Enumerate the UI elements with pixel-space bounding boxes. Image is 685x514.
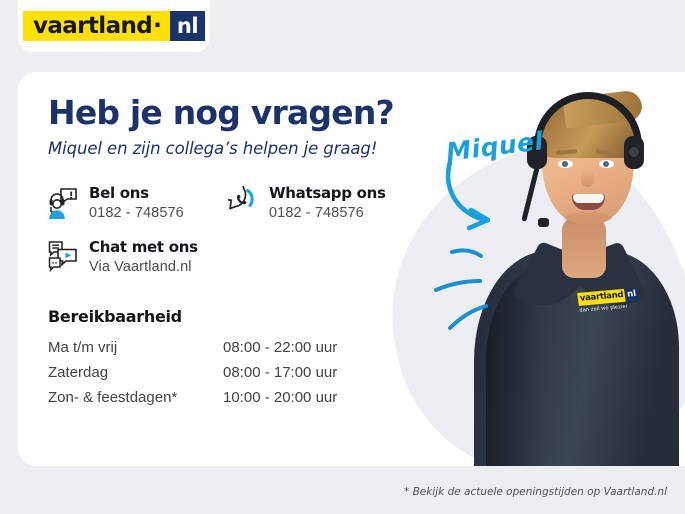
- table-row: Ma t/m vrij 08:00 - 22:00 uur: [48, 339, 448, 356]
- contact-text-whatsapp: Whatsapp ons 0182 - 748576: [269, 184, 386, 221]
- logo-word: vaartland: [33, 15, 152, 38]
- curved-arrow-icon: [438, 158, 534, 236]
- contact-text-chat: Chat met ons Via Vaartland.nl: [89, 238, 198, 275]
- eye-left: [558, 160, 573, 168]
- headset-earcup-right: [624, 136, 644, 169]
- availability-day: Ma t/m vrij: [48, 339, 223, 356]
- promo-content: Heb je nog vragen? Miquel en zijn colleg…: [48, 96, 448, 414]
- table-row: Zon- & feestdagen* 10:00 - 20:00 uur: [48, 389, 448, 406]
- availability-time: 08:00 - 22:00 uur: [223, 339, 337, 356]
- availability-time: 08:00 - 17:00 uur: [223, 364, 337, 381]
- availability-table: Ma t/m vrij 08:00 - 22:00 uur Zaterdag 0…: [48, 339, 448, 406]
- contact-value: 0182 - 748576: [89, 205, 184, 221]
- eye-right: [599, 160, 614, 168]
- contact-item-whatsapp[interactable]: Whatsapp ons 0182 - 748576: [228, 184, 408, 221]
- contact-title: Chat met ons: [89, 238, 198, 256]
- logo-tld-plate: nl: [170, 11, 205, 41]
- contact-value: 0182 - 748576: [269, 205, 386, 221]
- availability-day: Zaterdag: [48, 364, 223, 381]
- logo-lockup: vaartland · nl: [23, 11, 205, 41]
- page-title: Heb je nog vragen?: [48, 96, 448, 131]
- availability-time: 10:00 - 20:00 uur: [223, 389, 337, 406]
- nose: [581, 170, 594, 187]
- availability-title: Bereikbaarheid: [48, 307, 448, 326]
- page-subtitle: Miquel en zijn collega’s helpen je graag…: [48, 139, 448, 158]
- availability-day: Zon- & feestdagen*: [48, 389, 223, 406]
- logo-separator-dot: ·: [153, 15, 162, 38]
- logo-tld: nl: [177, 16, 198, 37]
- footnote: * Bekijk de actuele openingstijden op Va…: [404, 486, 667, 498]
- promo-banner: vaartland · nl: [0, 0, 685, 514]
- contact-value: Via Vaartland.nl: [89, 259, 198, 275]
- polo-logo-tld: nl: [624, 288, 639, 302]
- logo-wordmark-plate: vaartland ·: [23, 11, 170, 41]
- chat-bubbles-icon: [48, 240, 78, 274]
- teeth: [573, 194, 604, 203]
- whatsapp-icon: [228, 186, 258, 220]
- contact-title: Bel ons: [89, 184, 184, 202]
- contact-methods: Bel ons 0182 - 748576 Whatsapp ons 0182 …: [48, 184, 448, 275]
- motion-lines-icon: [432, 240, 504, 338]
- contact-text-call: Bel ons 0182 - 748576: [89, 184, 184, 221]
- headset-agent-icon: [48, 186, 78, 220]
- contact-title: Whatsapp ons: [269, 184, 386, 202]
- brand-logo[interactable]: vaartland · nl: [18, 0, 210, 52]
- headset-microphone: [538, 218, 549, 227]
- polo-chest-logo: vaartland nl dan zeil we plezier: [577, 287, 647, 320]
- table-row: Zaterdag 08:00 - 17:00 uur: [48, 364, 448, 381]
- contact-item-call[interactable]: Bel ons 0182 - 748576: [48, 184, 228, 221]
- neck: [562, 218, 606, 278]
- chin-shading: [564, 212, 612, 224]
- contact-item-chat[interactable]: Chat met ons Via Vaartland.nl: [48, 238, 228, 275]
